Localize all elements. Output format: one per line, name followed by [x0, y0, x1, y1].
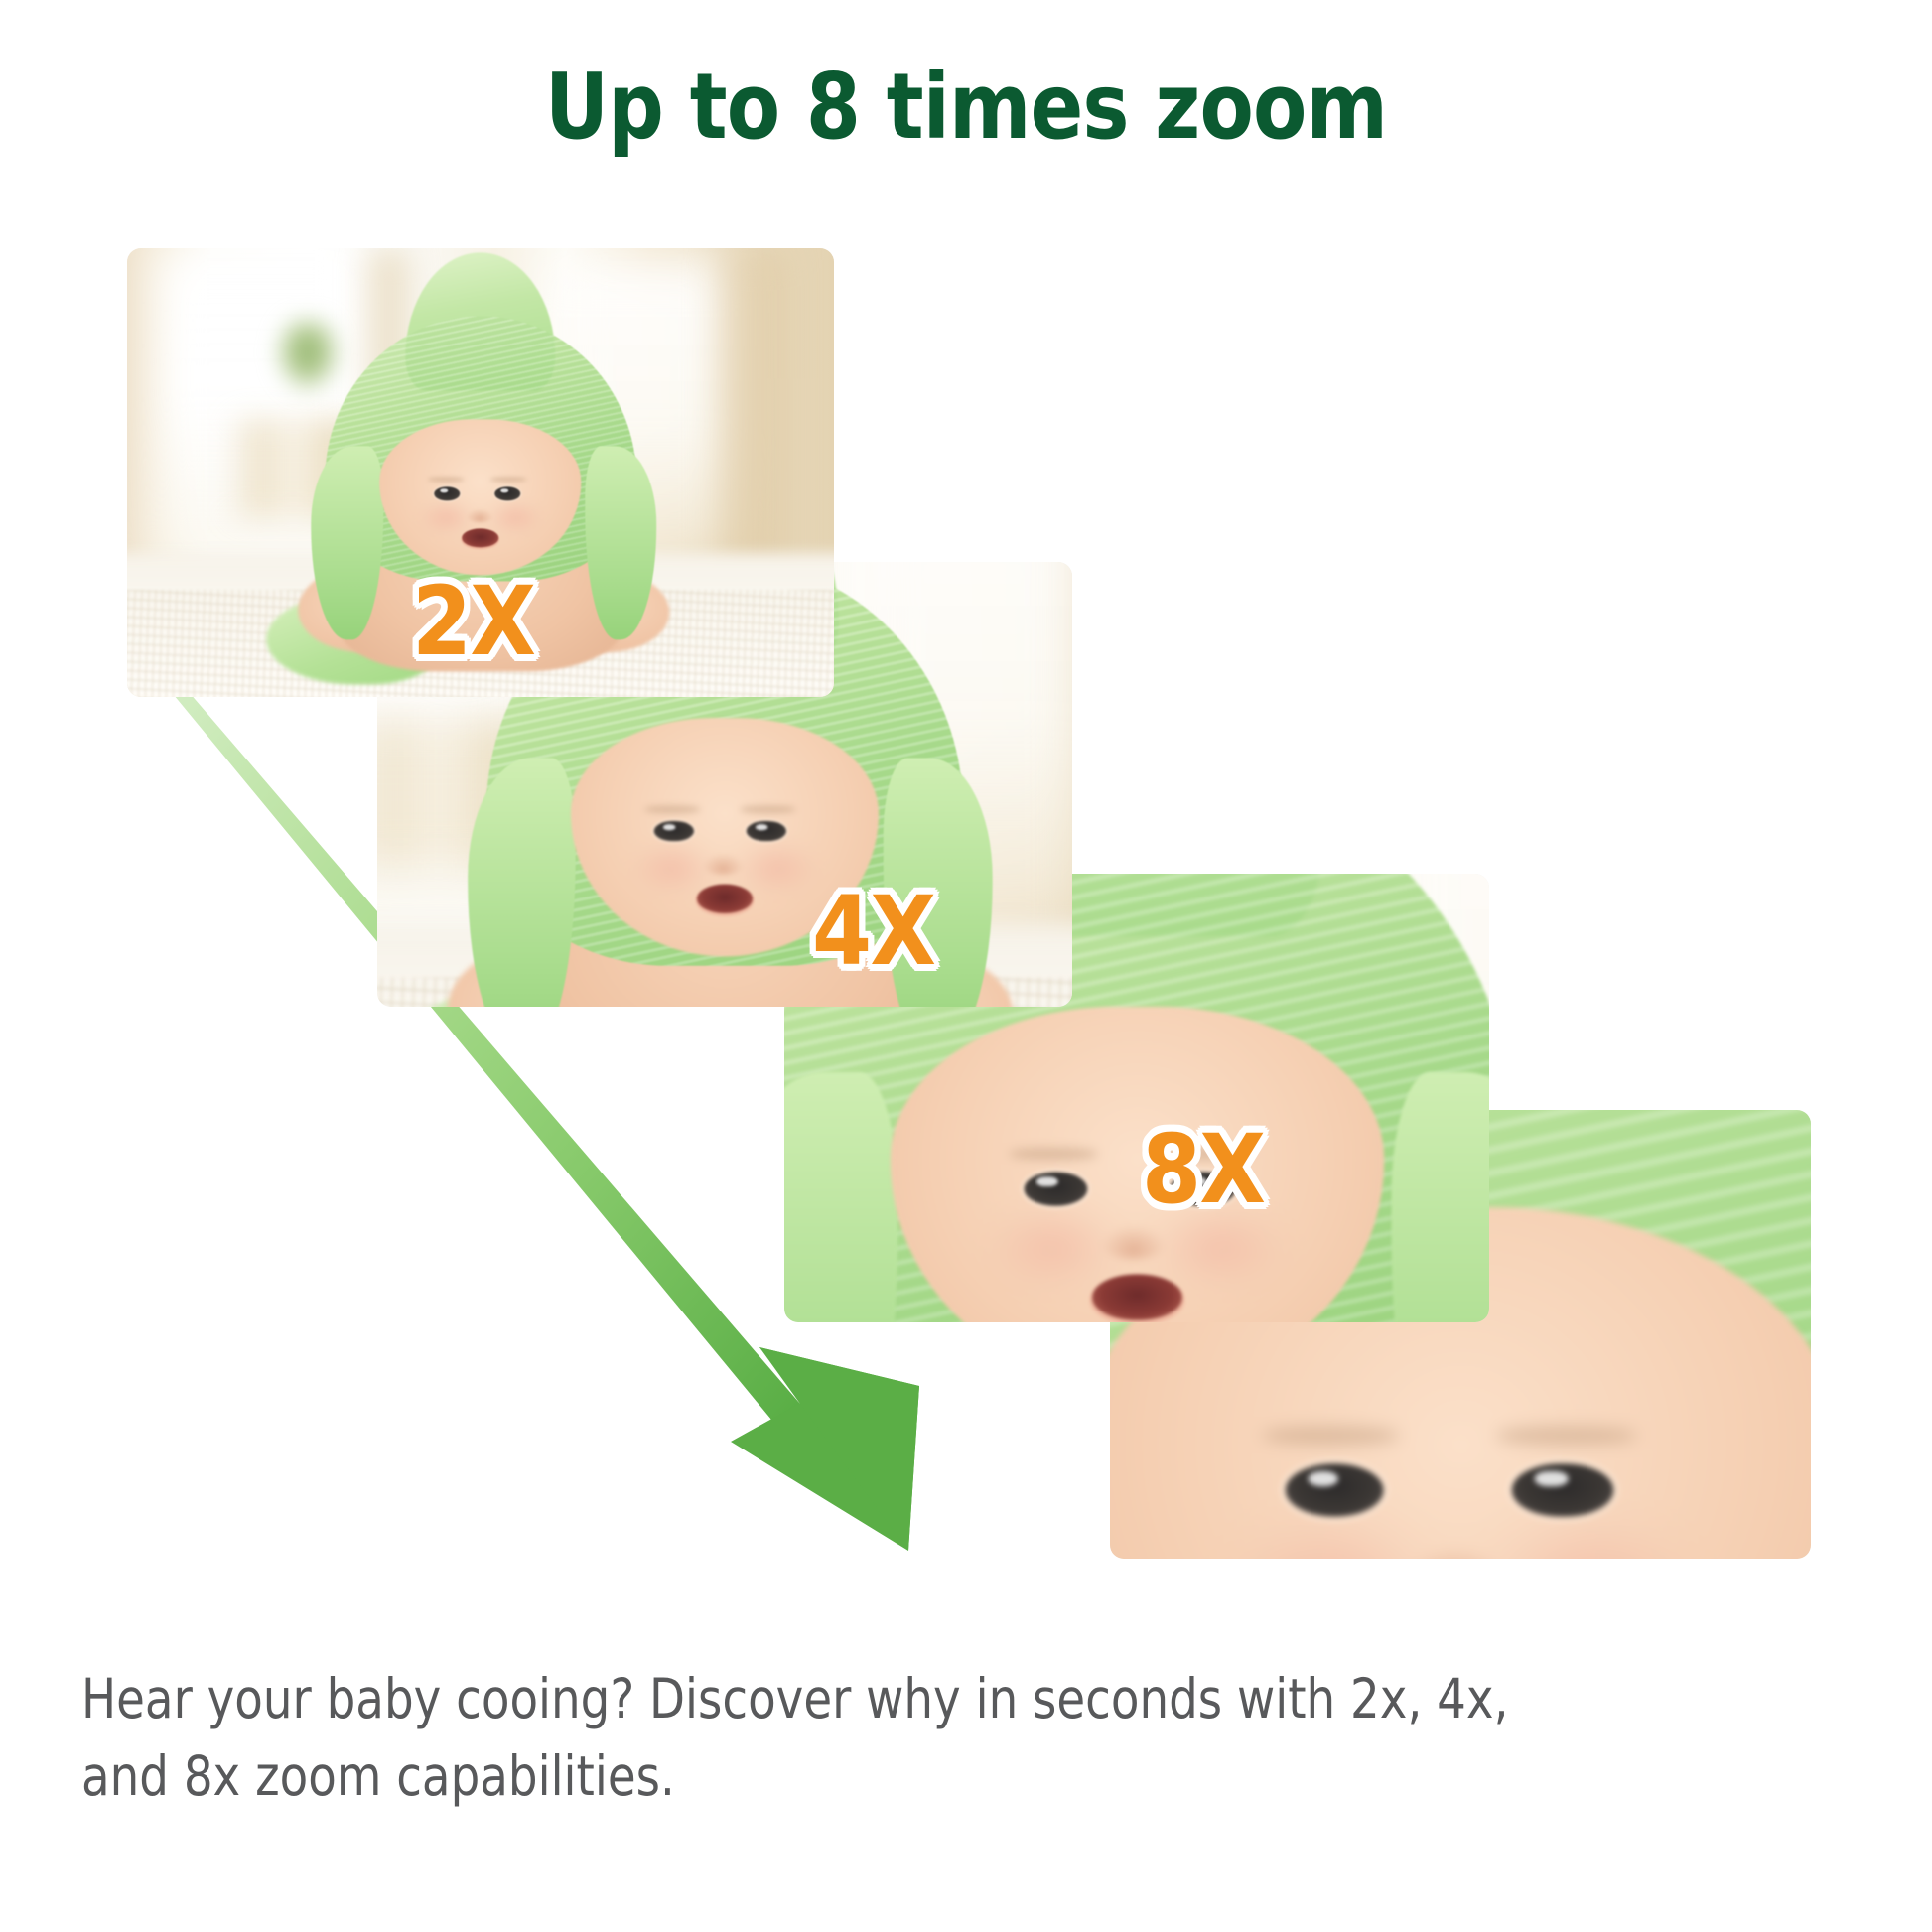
product-feature-panel: Up to 8 times zoom [0, 0, 1932, 1932]
zoom-badge-4x: 4X [812, 884, 934, 979]
page-title: Up to 8 times zoom [135, 62, 1797, 153]
zoom-badge-8x: 8X [1142, 1122, 1264, 1217]
zoom-badge-2x: 2X [412, 574, 534, 669]
feature-caption: Hear your baby cooing? Discover why in s… [81, 1660, 1576, 1815]
